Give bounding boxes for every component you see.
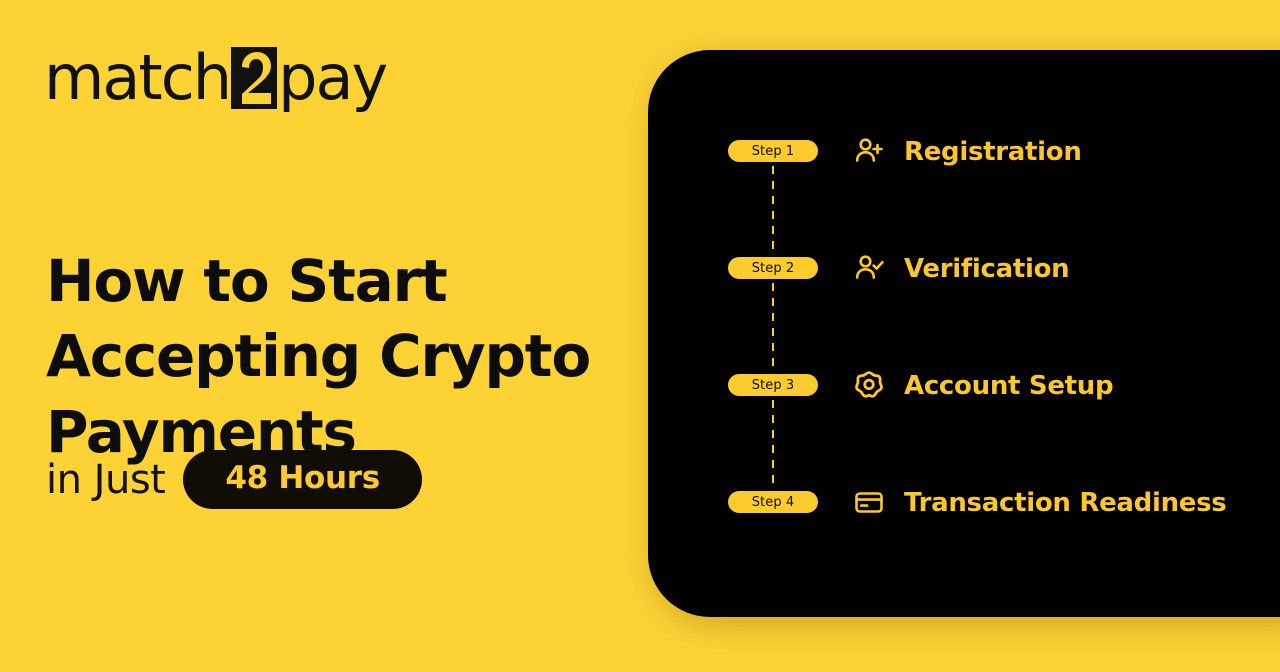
gear-icon — [850, 366, 888, 404]
page-title: How to Start Accepting Crypto Payments — [46, 244, 606, 470]
step-number-badge: Step 1 — [728, 140, 818, 162]
subheadline-prefix: in Just — [46, 457, 165, 503]
logo-two-badge-icon — [231, 47, 277, 109]
user-check-icon — [850, 249, 888, 287]
subheadline: in Just 48 Hours — [46, 450, 422, 509]
step-label: Transaction Readiness — [904, 484, 1226, 522]
brand-logo[interactable]: match pay — [44, 46, 386, 110]
credit-card-icon — [850, 483, 888, 521]
step-row[interactable]: Step 4 Transaction Readiness — [728, 491, 1280, 531]
step-label: Registration — [904, 133, 1082, 171]
step-connector-line — [772, 166, 774, 254]
step-number-badge: Step 2 — [728, 257, 818, 279]
step-row[interactable]: Step 1 Registration — [728, 140, 1280, 257]
step-connector-line — [772, 400, 774, 488]
user-plus-icon — [850, 132, 888, 170]
step-label: Verification — [904, 250, 1069, 288]
logo-text-match: match — [44, 47, 230, 109]
logo-text-pay: pay — [278, 47, 386, 109]
step-row[interactable]: Step 2 Verification — [728, 257, 1280, 374]
step-number-badge: Step 3 — [728, 374, 818, 396]
step-connector-line — [772, 283, 774, 371]
step-number-badge: Step 4 — [728, 491, 818, 513]
step-label: Account Setup — [904, 367, 1113, 405]
duration-badge: 48 Hours — [183, 450, 422, 509]
step-row[interactable]: Step 3 Account Setup — [728, 374, 1280, 491]
left-content-column: match pay How to Start Accepting Crypto … — [0, 0, 648, 672]
steps-panel: Step 1 Registration Step 2 — [648, 50, 1280, 617]
steps-list: Step 1 Registration Step 2 — [728, 140, 1280, 531]
